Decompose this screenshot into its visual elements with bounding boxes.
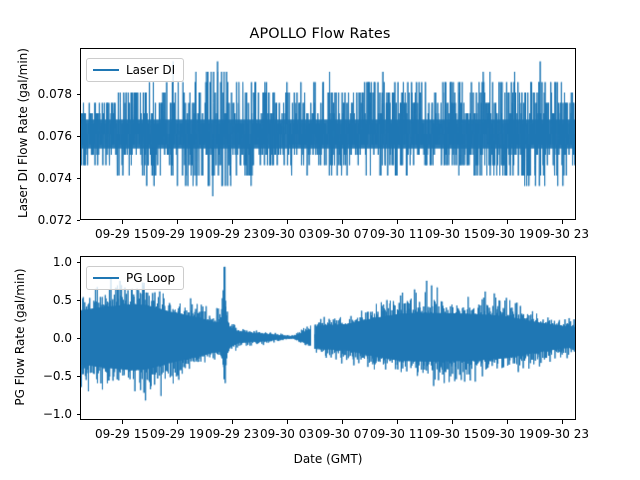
legend-line-swatch-icon [93,69,119,71]
y-tick-mark [77,262,81,263]
x-tick-mark [232,220,233,224]
y-tick-label: −1.0 [22,407,72,421]
x-tick-label: 09-30 03 [260,227,314,241]
x-tick-label: 09-30 03 [260,427,314,441]
x-tick-label: 09-30 19 [480,227,534,241]
x-tick-label: 09-30 07 [315,427,369,441]
x-tick-mark [342,420,343,424]
x-tick-mark [562,220,563,224]
x-tick-label: 09-30 23 [535,227,589,241]
x-tick-mark [397,220,398,224]
x-tick-mark [122,420,123,424]
y-tick-mark [77,178,81,179]
x-tick-mark [342,220,343,224]
x-tick-label: 09-29 15 [95,427,149,441]
x-tick-label: 09-30 23 [535,427,589,441]
y-tick-label: 1.0 [22,255,72,269]
x-tick-label: 09-29 23 [205,227,259,241]
x-tick-label: 09-29 15 [95,227,149,241]
x-tick-mark [232,420,233,424]
y-tick-mark [77,338,81,339]
x-tick-label: 09-29 23 [205,427,259,441]
y-tick-label: 0.072 [22,213,72,227]
x-tick-label: 09-30 11 [370,227,424,241]
x-tick-mark [397,420,398,424]
legend-line-swatch-icon [93,277,119,279]
legend-label: Laser DI [126,63,175,77]
x-tick-mark [122,220,123,224]
x-tick-mark [287,220,288,224]
x-tick-mark [177,220,178,224]
x-axis-label: Date (GMT) [80,452,576,466]
y-tick-mark [77,136,81,137]
x-tick-mark [562,420,563,424]
x-tick-label: 09-30 15 [425,227,479,241]
y-tick-label: 0.5 [22,293,72,307]
y-tick-mark [77,376,81,377]
x-tick-mark [452,420,453,424]
page-title: APOLLO Flow Rates [0,26,640,42]
x-tick-mark [177,420,178,424]
x-tick-label: 09-30 15 [425,427,479,441]
y-tick-mark [77,220,81,221]
x-tick-label: 09-30 19 [480,427,534,441]
y-tick-label: 0.0 [22,331,72,345]
y-tick-mark [77,300,81,301]
x-tick-mark [507,420,508,424]
y-tick-label: 0.074 [22,171,72,185]
y-tick-label: 0.076 [22,129,72,143]
y-tick-mark [77,414,81,415]
x-tick-label: 09-29 19 [150,427,204,441]
y-tick-mark [77,94,81,95]
y-tick-label: −0.5 [22,369,72,383]
x-tick-mark [287,420,288,424]
x-tick-mark [452,220,453,224]
legend-laser-di[interactable]: Laser DI [86,58,184,82]
figure-canvas: APOLLO Flow Rates Laser DI Flow Rate (ga… [0,0,640,480]
x-tick-mark [507,220,508,224]
legend-label: PG Loop [126,271,175,285]
x-tick-label: 09-30 07 [315,227,369,241]
legend-pg-loop[interactable]: PG Loop [86,266,184,290]
y-tick-label: 0.078 [22,87,72,101]
x-tick-label: 09-29 19 [150,227,204,241]
x-tick-label: 09-30 11 [370,427,424,441]
